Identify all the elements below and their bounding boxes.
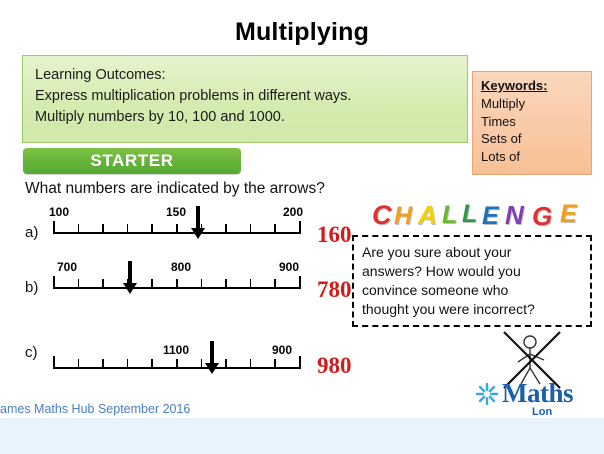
keyword-item: Sets of xyxy=(481,130,591,148)
numberline-tick-label: 150 xyxy=(166,205,186,219)
challenge-line-3: convince someone who xyxy=(362,281,582,300)
challenge-letter: E xyxy=(482,202,499,231)
challenge-line-4: thought you were incorrect? xyxy=(362,300,582,319)
starter-label: STARTER xyxy=(23,148,241,174)
numberline-arrow-a xyxy=(191,206,205,240)
numberline-a: 100 150 200 xyxy=(53,232,301,233)
challenge-letter: A xyxy=(418,200,437,231)
numberline-tick xyxy=(250,224,252,234)
keyword-item: Multiply xyxy=(481,95,591,113)
numberline-row-a: a) 100 150 200 160 xyxy=(25,210,355,254)
learning-outcomes-line-1: Express multiplication problems in diffe… xyxy=(35,86,455,107)
numberline-tick-label: 900 xyxy=(279,260,299,274)
numberline-row-c: c) 1100 900 980 xyxy=(25,330,355,374)
challenge-letter: N xyxy=(505,200,524,231)
numberline-b: 700 800 900 xyxy=(53,287,301,288)
learning-outcomes-line-2: Multiply numbers by 10, 100 and 1000. xyxy=(35,107,455,128)
numberline-tick xyxy=(102,279,104,289)
challenge-letter: E xyxy=(560,200,577,229)
numberline-tick xyxy=(274,359,276,369)
numberline-c: 1100 900 xyxy=(53,367,301,368)
numberline-tick-label: 700 xyxy=(57,260,77,274)
numberline-tick-label: 900 xyxy=(272,343,292,357)
learning-outcomes-heading: Learning Outcomes: xyxy=(35,65,455,86)
numberline-tick xyxy=(225,224,227,234)
challenge-letter: G xyxy=(532,201,552,232)
maths-hub-logo: Maths Lon xyxy=(472,378,602,430)
numberline-tick xyxy=(250,279,252,289)
numberline-tick-label: 800 xyxy=(171,260,191,274)
numberline-tick xyxy=(78,279,80,289)
numberline-tick xyxy=(151,359,153,369)
numberline-row-b: b) 700 800 900 780 xyxy=(25,265,355,309)
slide: Multiplying Learning Outcomes: Express m… xyxy=(0,0,604,454)
footer-text: ames Maths Hub September 2016 xyxy=(0,402,190,416)
numberline-endtick xyxy=(53,356,55,369)
keywords-title: Keywords: xyxy=(481,78,591,93)
numberline-tick xyxy=(176,279,178,289)
numberline-tick xyxy=(225,279,227,289)
challenge-letter: L xyxy=(442,201,457,230)
numberline-answer-a: 160 xyxy=(317,222,352,248)
challenge-letter: C xyxy=(372,200,392,231)
numberline-tick xyxy=(102,359,104,369)
numberline-tick xyxy=(151,279,153,289)
numberline-tick xyxy=(250,359,252,369)
learning-outcomes-box: Learning Outcomes: Express multiplicatio… xyxy=(22,55,468,143)
challenge-title: C H A L L E N G E xyxy=(372,200,594,232)
numberline-endtick xyxy=(299,221,301,234)
numberline-tick xyxy=(201,279,203,289)
numberline-tick xyxy=(151,224,153,234)
keyword-item: Lots of xyxy=(481,148,591,166)
numberline-tick xyxy=(78,224,80,234)
numberline-tick xyxy=(176,359,178,369)
numberline-tick-label: 1100 xyxy=(163,343,189,357)
numberline-label-a: a) xyxy=(25,224,38,241)
challenge-letter: H xyxy=(394,202,412,231)
numberline-endtick xyxy=(299,276,301,289)
numberline-tick xyxy=(78,359,80,369)
numberline-arrow-c xyxy=(205,341,219,375)
star-icon xyxy=(474,381,500,412)
numberline-tick-label: 100 xyxy=(49,205,69,219)
numberline-label-b: b) xyxy=(25,279,38,296)
numberline-tick xyxy=(225,359,227,369)
numberline-tick xyxy=(127,224,129,234)
numberline-tick xyxy=(102,224,104,234)
numberline-answer-b: 780 xyxy=(317,277,352,303)
challenge-line-2: answers? How would you xyxy=(362,262,582,281)
challenge-letter: L xyxy=(462,200,477,229)
numberline-tick xyxy=(201,359,203,369)
numberline-tick xyxy=(274,279,276,289)
keyword-item: Times xyxy=(481,113,591,131)
starter-banner: STARTER xyxy=(23,148,241,174)
challenge-box: Are you sure about your answers? How wou… xyxy=(352,235,592,327)
numberline-label-c: c) xyxy=(25,344,38,361)
page-title: Multiplying xyxy=(0,18,604,47)
logo-word: Maths xyxy=(502,378,573,409)
numberline-endtick xyxy=(53,221,55,234)
numberline-tick xyxy=(274,224,276,234)
numberline-endtick xyxy=(299,356,301,369)
numberline-answer-c: 980 xyxy=(317,353,352,379)
numberline-endtick xyxy=(53,276,55,289)
numberline-arrow-b xyxy=(123,261,137,295)
keywords-box: Keywords: Multiply Times Sets of Lots of xyxy=(472,71,592,175)
numberline-tick xyxy=(176,224,178,234)
numberline-tick xyxy=(127,359,129,369)
numberline-tick-label: 200 xyxy=(283,205,303,219)
logo-sub: Lon xyxy=(532,406,552,418)
challenge-line-1: Are you sure about your xyxy=(362,243,582,262)
question-text: What numbers are indicated by the arrows… xyxy=(25,180,325,198)
